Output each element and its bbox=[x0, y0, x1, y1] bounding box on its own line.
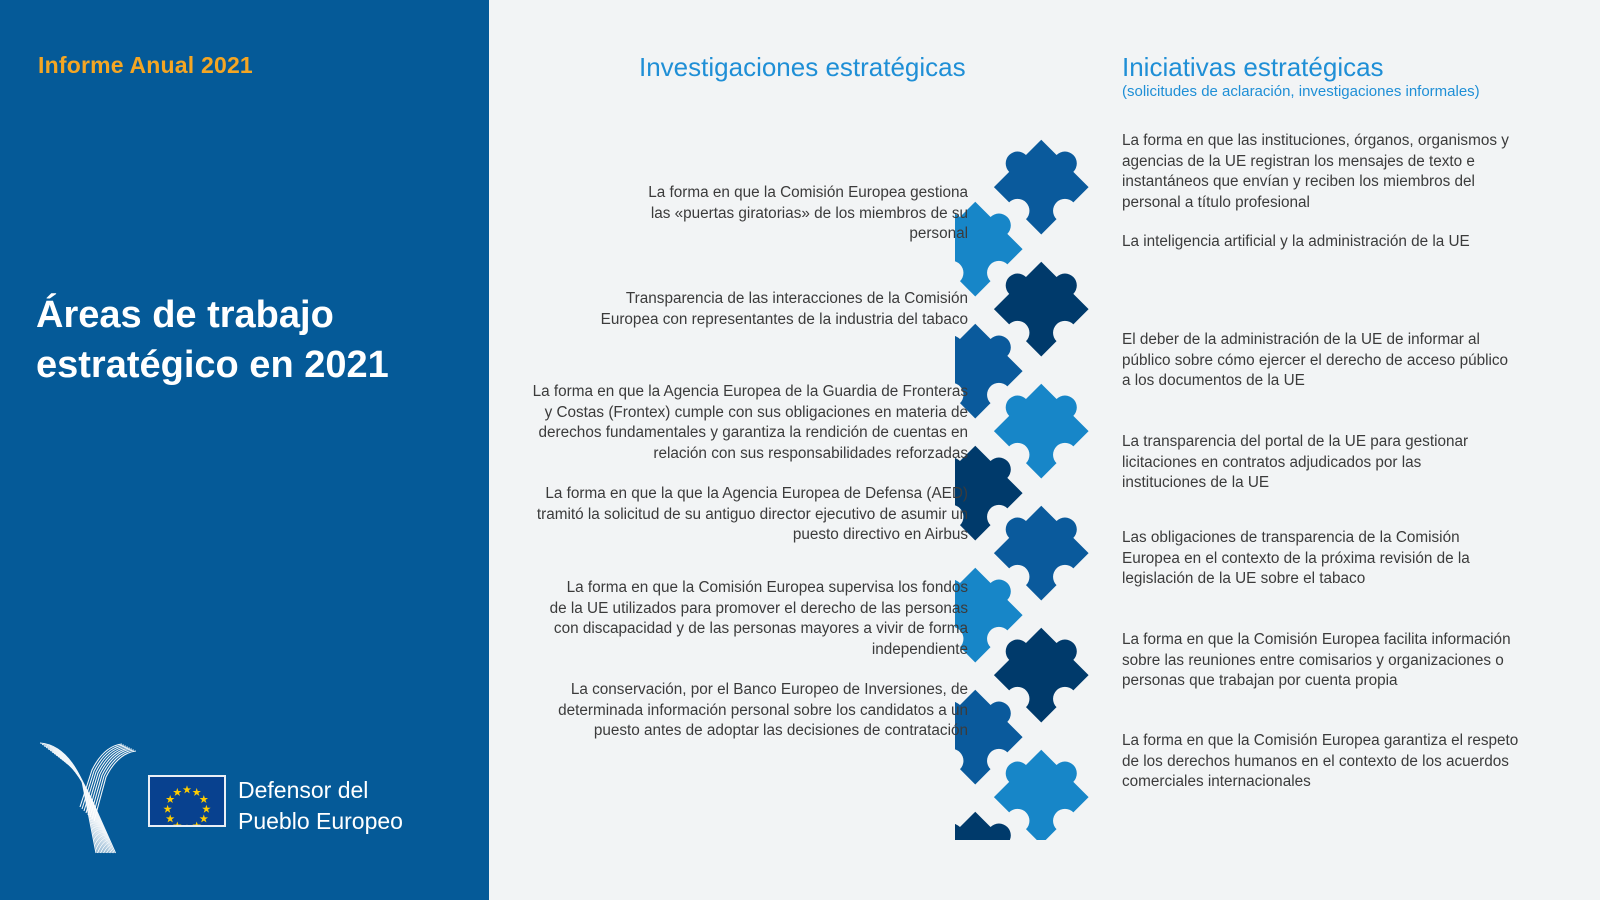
list-item: La forma en que las instituciones, órgan… bbox=[1122, 131, 1522, 214]
list-item: La forma en que la Comisión Europea gest… bbox=[628, 183, 968, 245]
list-item: La forma en que la Comisión Europea gara… bbox=[1122, 731, 1522, 793]
ombudsman-logo: Defensor del Pueblo Europeo bbox=[36, 735, 436, 855]
eu-stars bbox=[150, 777, 224, 825]
list-item: El deber de la administración de la UE d… bbox=[1122, 330, 1512, 392]
column-subheader-initiatives: (solicitudes de aclaración, investigacio… bbox=[1122, 83, 1480, 100]
list-item: La inteligencia artificial y la administ… bbox=[1122, 232, 1542, 253]
logo-wordmark: Defensor del Pueblo Europeo bbox=[238, 775, 403, 836]
column-header-inquiries: Investigaciones estratégicas bbox=[639, 52, 966, 83]
list-item: La transparencia del portal de la UE par… bbox=[1122, 432, 1502, 494]
page-title: Áreas de trabajo estratégico en 2021 bbox=[36, 290, 456, 390]
list-item: Transparencia de las interacciones de la… bbox=[568, 289, 968, 330]
logo-text-line-1: Defensor del bbox=[238, 775, 403, 806]
infographic-page: Informe Anual 2021 Áreas de trabajo estr… bbox=[0, 0, 1600, 900]
column-header-initiatives: Iniciativas estratégicas bbox=[1122, 52, 1384, 83]
interlocking-puzzle-chain bbox=[955, 118, 1140, 838]
list-item: La conservación, por el Banco Europeo de… bbox=[518, 680, 968, 742]
list-item: La forma en que la Comisión Europea faci… bbox=[1122, 630, 1542, 692]
list-item: Las obligaciones de transparencia de la … bbox=[1122, 528, 1502, 590]
puzzle-graphic bbox=[955, 118, 1140, 840]
sidebar-panel: Informe Anual 2021 Áreas de trabajo estr… bbox=[0, 0, 489, 900]
logo-text-line-2: Pueblo Europeo bbox=[238, 806, 403, 837]
list-item: La forma en que la Comisión Europea supe… bbox=[548, 578, 968, 661]
list-item: La forma en que la que la Agencia Europe… bbox=[528, 484, 968, 546]
ombudsman-v-mark bbox=[36, 735, 146, 855]
report-label: Informe Anual 2021 bbox=[38, 52, 253, 79]
list-item: La forma en que la Agencia Europea de la… bbox=[528, 382, 968, 465]
eu-flag-icon bbox=[148, 775, 226, 827]
sidebar-divider bbox=[489, 0, 500, 900]
